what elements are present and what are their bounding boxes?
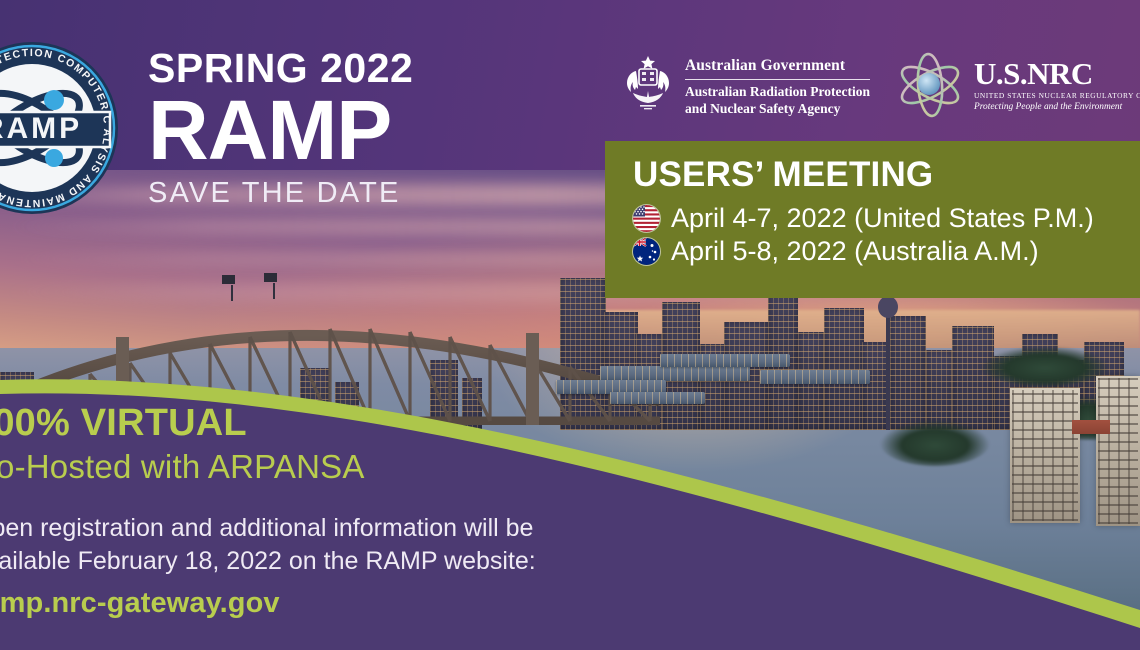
atom-icon <box>896 52 970 118</box>
australia-flag-icon <box>633 238 660 265</box>
australian-coat-of-arms-icon <box>620 53 676 115</box>
users-meeting-title: USERS’ MEETING <box>633 157 1140 192</box>
meeting-session-row: April 5-8, 2022 (Australia A.M.) <box>633 236 1140 266</box>
nrc-fullname: UNITED STATES NUCLEAR REGULATORY COMMISS… <box>974 91 1140 100</box>
ramp-logo-acronym: RAMP <box>0 112 82 145</box>
cohost-label: Co-Hosted with ARPANSA <box>0 448 612 486</box>
virtual-headline: 100% VIRTUAL <box>0 404 612 442</box>
promotional-banner: RAMP RADIATION PROTECTION COMPUTER CODE … <box>0 0 1140 650</box>
meeting-session-row: April 4-7, 2022 (United States P.M.) <box>633 203 1140 233</box>
arpansa-line-2: and Nuclear Safety Agency <box>685 101 870 117</box>
registration-info-line-2: available February 18, 2022 on the RAMP … <box>0 545 612 578</box>
meeting-session-date: April 4-7, 2022 (United States P.M.) <box>671 203 1094 233</box>
ramp-website-link[interactable]: ramp.nrc-gateway.gov <box>0 587 612 620</box>
nrc-tagline: Protecting People and the Environment <box>974 102 1140 112</box>
arpansa-line-1: Australian Radiation Protection <box>685 84 870 100</box>
us-flag-icon <box>633 205 660 232</box>
divider-rule <box>685 79 870 80</box>
save-the-date: SAVE THE DATE <box>148 177 413 210</box>
registration-info-line-1: Open registration and additional informa… <box>0 512 612 545</box>
headline-block: SPRING 2022 RAMP SAVE THE DATE <box>148 48 413 210</box>
nrc-acronym: U.S.NRC <box>974 58 1140 89</box>
ramp-logo: RAMP RADIATION PROTECTION COMPUTER CODE … <box>0 38 122 218</box>
users-meeting-box: USERS’ MEETING <box>605 141 1140 298</box>
program-title: RAMP <box>148 91 413 171</box>
australian-government-label: Australian Government <box>685 57 870 75</box>
arpansa-logo: Australian Government Australian Radiati… <box>620 53 870 117</box>
meeting-session-date: April 5-8, 2022 (Australia A.M.) <box>671 236 1039 266</box>
us-nrc-logo: U.S.NRC UNITED STATES NUCLEAR REGULATORY… <box>896 52 1140 118</box>
partner-logos: Australian Government Australian Radiati… <box>620 52 1140 118</box>
bottom-info-block: 100% VIRTUAL Co-Hosted with ARPANSA Open… <box>0 404 612 620</box>
